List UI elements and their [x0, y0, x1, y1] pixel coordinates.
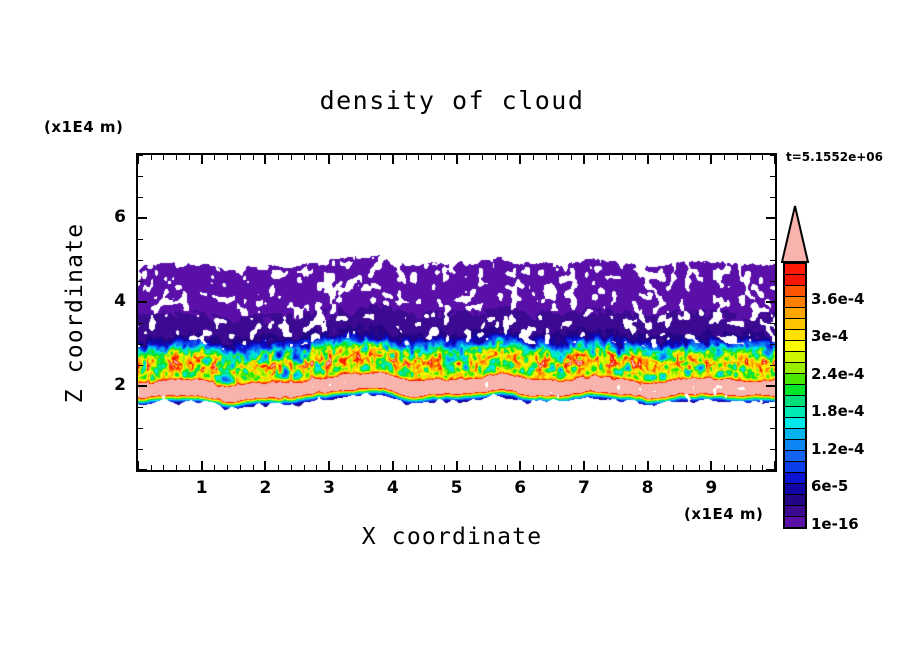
colorbar-tick-label: 3e-4: [811, 327, 848, 345]
colorbar-band: [785, 374, 805, 385]
colorbar-band: [785, 418, 805, 429]
y-axis-title: Z coordinate: [62, 213, 88, 413]
x-axis-title: X coordinate: [0, 524, 904, 550]
colorbar-band: [785, 451, 805, 462]
colorbar-band: [785, 495, 805, 506]
colorbar-band: [785, 385, 805, 396]
colorbar-band: [785, 517, 805, 527]
colorbar-band: [785, 506, 805, 517]
colorbar-tick-label: 1e-16: [811, 515, 859, 533]
time-stamp-annotation: t=5.1552e+06: [786, 150, 883, 164]
colorbar-band: [785, 286, 805, 297]
colorbar-bands: [783, 262, 807, 529]
colorbar-band: [785, 330, 805, 341]
colorbar-tick-label: 3.6e-4: [811, 290, 864, 308]
colorbar-band: [785, 484, 805, 495]
colorbar-tick-label: 1.2e-4: [811, 440, 864, 458]
x-tick-label: 7: [569, 478, 599, 498]
colorbar-band: [785, 363, 805, 374]
x-tick-label: 1: [187, 478, 217, 498]
colorbar-band: [785, 429, 805, 440]
colorbar-tick-label: 6e-5: [811, 477, 848, 495]
colorbar-band: [785, 396, 805, 407]
colorbar-band: [785, 319, 805, 330]
colorbar-tick-label: 2.4e-4: [811, 365, 864, 383]
colorbar-band: [785, 297, 805, 308]
colorbar-band: [785, 275, 805, 286]
y-tick-label: 6: [100, 207, 126, 227]
colorbar-over-arrow: [781, 204, 811, 264]
colorbar-band: [785, 473, 805, 484]
page-title: density of cloud: [0, 86, 904, 115]
x-tick-label: 2: [250, 478, 280, 498]
colorbar-band: [785, 440, 805, 451]
contour-field: [138, 155, 775, 470]
x-tick-label: 4: [378, 478, 408, 498]
colorbar-band: [785, 341, 805, 352]
y-tick-label: 2: [100, 375, 126, 395]
plot-area: [136, 153, 777, 472]
y-axis-unit-label: (x1E4 m): [44, 118, 123, 136]
colorbar-band: [785, 462, 805, 473]
colorbar-tick-label: 1.8e-4: [811, 402, 864, 420]
x-axis-unit-label: (x1E4 m): [684, 505, 763, 523]
x-tick-label: 9: [696, 478, 726, 498]
x-tick-label: 6: [505, 478, 535, 498]
x-tick-label: 8: [633, 478, 663, 498]
x-tick-label: 3: [314, 478, 344, 498]
y-tick-label: 4: [100, 291, 126, 311]
colorbar-band: [785, 407, 805, 418]
colorbar-band: [785, 352, 805, 363]
colorbar-band: [785, 264, 805, 275]
x-tick-label: 5: [442, 478, 472, 498]
colorbar-band: [785, 308, 805, 319]
